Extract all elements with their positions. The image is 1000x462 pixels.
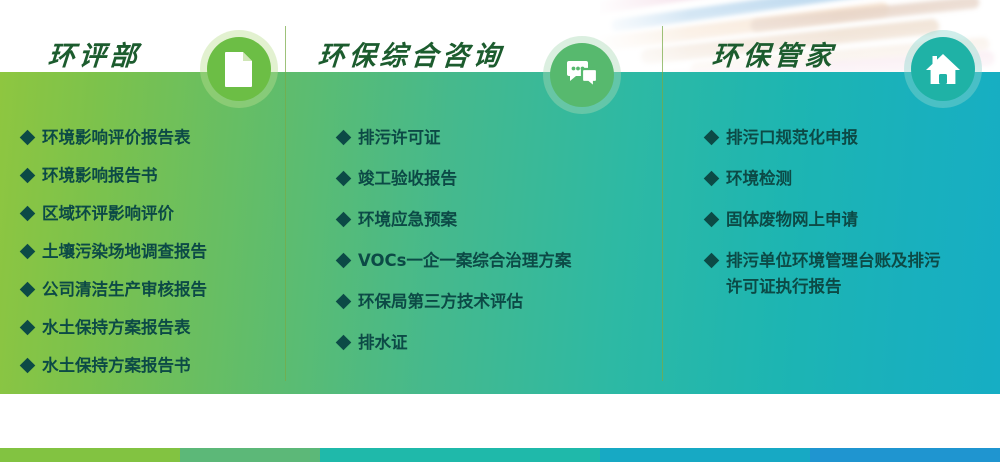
list-item-label: 区域环评影响评价 [42, 201, 174, 227]
diamond-bullet-icon [20, 358, 36, 374]
diamond-bullet-icon [336, 294, 352, 310]
list-item[interactable]: 排污口规范化申报 [706, 125, 988, 151]
list-item[interactable]: 水土保持方案报告书 [22, 353, 280, 379]
list-item[interactable]: 环境影响评价报告表 [22, 125, 280, 151]
diamond-bullet-icon [336, 212, 352, 228]
diamond-bullet-icon [704, 130, 720, 146]
list-item-label: 环境影响评价报告表 [42, 125, 191, 151]
list-item-label: 水土保持方案报告表 [42, 315, 191, 341]
column-title-col3: 环保管家 [711, 34, 838, 73]
list-item[interactable]: 土壤污染场地调查报告 [22, 239, 280, 265]
diamond-bullet-icon [20, 206, 36, 222]
list-item[interactable]: 环境影响报告书 [22, 163, 280, 189]
column-badge-col3 [904, 30, 982, 108]
list-item[interactable]: 环保局第三方技术评估 [338, 289, 648, 315]
list-item[interactable]: 排污许可证 [338, 125, 648, 151]
list-item[interactable]: 区域环评影响评价 [22, 201, 280, 227]
list-item-label: 排污口规范化申报 [726, 125, 858, 151]
chat-bubbles-icon [565, 60, 599, 90]
list-item-label-group: 排污单位环境管理台账及排污 许可证执行报告 [726, 248, 941, 300]
column-title-col2: 环保综合咨询 [317, 34, 506, 73]
bottom-bar-segment-2 [180, 448, 320, 462]
list-item[interactable]: 排污单位环境管理台账及排污 许可证执行报告 [706, 248, 988, 300]
house-icon [925, 52, 961, 86]
bottom-bar-segment-4 [600, 448, 810, 462]
list-item[interactable]: 环境检测 [706, 166, 988, 192]
column-header-col1: 环评部 [0, 0, 285, 125]
diamond-bullet-icon [20, 168, 36, 184]
list-item[interactable]: 固体废物网上申请 [706, 207, 988, 233]
diamond-bullet-icon [336, 171, 352, 187]
diamond-bullet-icon [336, 130, 352, 146]
diamond-bullet-icon [704, 171, 720, 187]
list-item-label: VOCs一企一案综合治理方案 [358, 248, 571, 274]
list-item-label: 环保局第三方技术评估 [358, 289, 523, 315]
service-list-col2: 排污许可证 竣工验收报告 环境应急预案 VOCs一企一案综合治理方案 环保局第三… [338, 125, 648, 371]
bottom-bar-segment-1 [0, 448, 180, 462]
document-icon [224, 51, 254, 87]
list-item-label: 竣工验收报告 [358, 166, 457, 192]
list-item-label: 土壤污染场地调查报告 [42, 239, 207, 265]
diamond-bullet-icon [704, 212, 720, 228]
diamond-bullet-icon [336, 253, 352, 269]
diamond-bullet-icon [20, 282, 36, 298]
service-list-col1: 环境影响评价报告表 环境影响报告书 区域环评影响评价 土壤污染场地调查报告 公司… [22, 125, 280, 391]
diamond-bullet-icon [704, 253, 720, 269]
list-item[interactable]: 环境应急预案 [338, 207, 648, 233]
diamond-bullet-icon [336, 335, 352, 351]
bottom-color-bar [0, 448, 1000, 462]
list-item-label-line2: 许可证执行报告 [726, 274, 941, 300]
diamond-bullet-icon [20, 130, 36, 146]
headers-row: 环评部 环保综合咨询 [0, 0, 1000, 125]
list-item-label: 环境检测 [726, 166, 792, 192]
list-item[interactable]: 公司清洁生产审核报告 [22, 277, 280, 303]
list-item[interactable]: VOCs一企一案综合治理方案 [338, 248, 648, 274]
list-item-label: 排污单位环境管理台账及排污 [726, 248, 941, 274]
diamond-bullet-icon [20, 320, 36, 336]
list-item-label: 环境应急预案 [358, 207, 457, 233]
list-item[interactable]: 竣工验收报告 [338, 166, 648, 192]
column-header-col3: 环保管家 [662, 0, 1000, 125]
service-list-col3: 排污口规范化申报 环境检测 固体废物网上申请 排污单位环境管理台账及排污 许可证… [706, 125, 988, 315]
diamond-bullet-icon [20, 244, 36, 260]
list-item-label: 水土保持方案报告书 [42, 353, 191, 379]
column-badge-col2 [543, 36, 621, 114]
list-item[interactable]: 排水证 [338, 330, 648, 356]
column-badge-col1 [200, 30, 278, 108]
list-item-label: 公司清洁生产审核报告 [42, 277, 207, 303]
list-item[interactable]: 水土保持方案报告表 [22, 315, 280, 341]
bottom-bar-segment-5 [810, 448, 1000, 462]
poster-canvas: 环评部 环保综合咨询 [0, 0, 1000, 462]
list-item-label: 排污许可证 [358, 125, 441, 151]
list-item-label: 固体废物网上申请 [726, 207, 858, 233]
list-item-label: 环境影响报告书 [42, 163, 158, 189]
list-item-label: 排水证 [358, 330, 408, 356]
bottom-bar-segment-3 [320, 448, 600, 462]
column-header-col2: 环保综合咨询 [285, 0, 662, 125]
column-title-col1: 环评部 [47, 34, 143, 73]
